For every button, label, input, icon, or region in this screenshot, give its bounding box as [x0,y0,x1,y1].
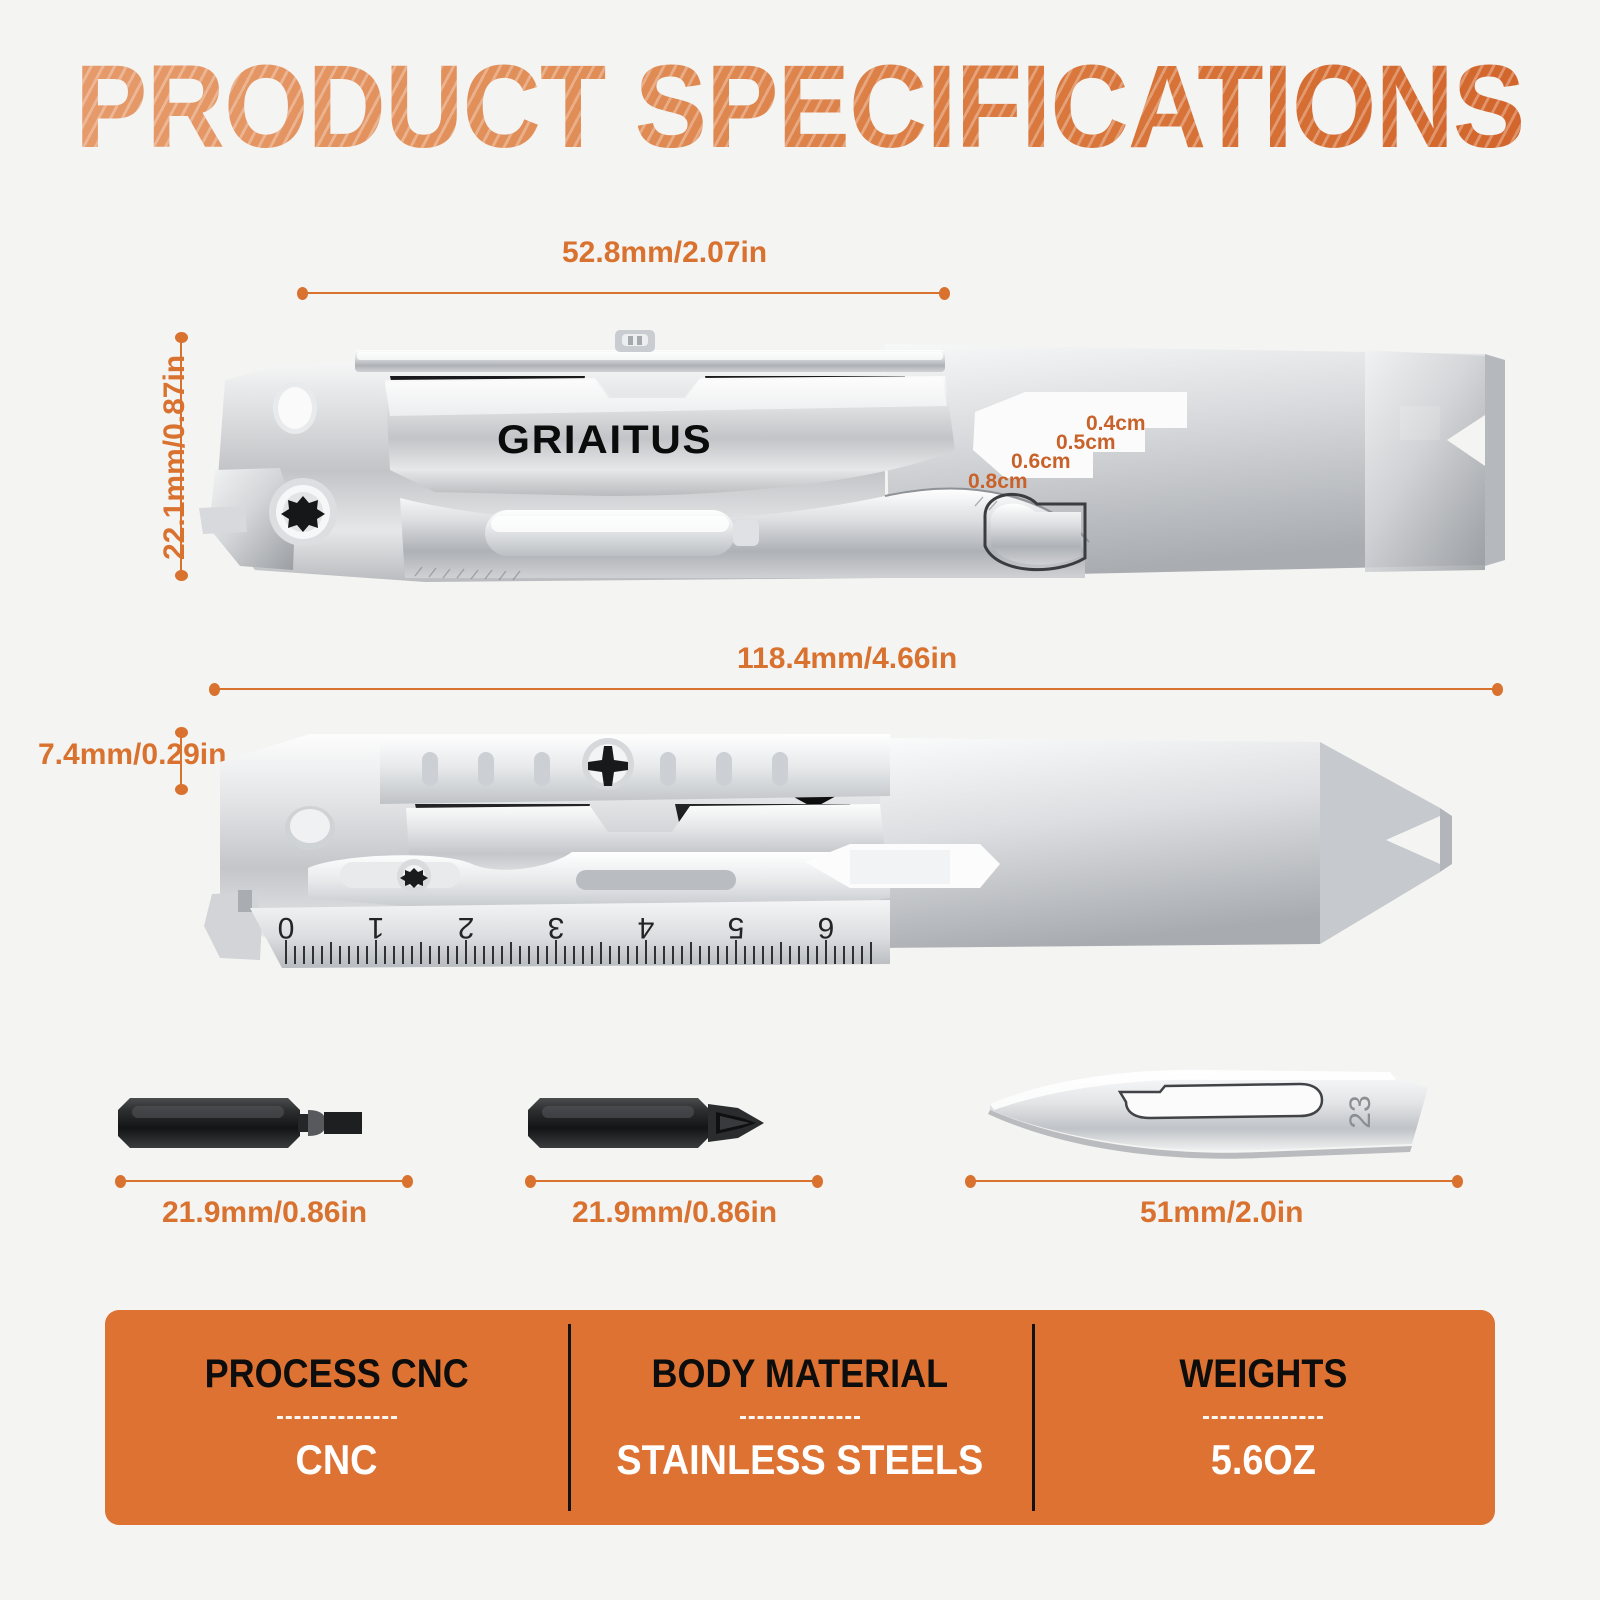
scalpel-blade-illustration: 23 [960,1050,1450,1170]
spec-divider-dash [277,1416,397,1419]
page-title-wrap: PRODUCT SPECIFICATIONS [0,48,1600,166]
open-length-dimension-label: 118.4mm/4.66in [737,642,957,676]
product-specifications-infographic: PRODUCT SPECIFICATIONS 52.8mm/2.07in 22.… [0,0,1600,1600]
flathead-bit-dimension-label: 21.9mm/0.86in [162,1196,367,1230]
spec-value-process: CNC [296,1436,378,1484]
page-title: PRODUCT SPECIFICATIONS [75,48,1524,166]
open-multitool-illustration: 0 1 2 3 4 5 6 [190,712,1520,982]
open-length-dimension-line [212,688,1500,690]
scalpel-blade-dimension-line [968,1180,1460,1182]
spec-divider-dash [1203,1416,1323,1419]
folded-height-dimension-line [180,335,182,578]
spec-column-body-material: BODY MATERIAL STAINLESS STEELS [568,1310,1031,1525]
scalpel-blade-number: 23 [1344,1095,1377,1128]
scalpel-blade-dimension-label: 51mm/2.0in [1140,1196,1303,1230]
wrench-step-label-0.8cm: 0.8cm [968,470,1028,494]
folded-length-dimension-line [300,292,947,294]
svg-text:0: 0 [278,911,295,944]
svg-text:3: 3 [548,911,565,944]
spec-value-body-material: STAINLESS STEELS [617,1436,984,1484]
flathead-bit-dimension-line [118,1180,410,1182]
svg-text:1: 1 [368,911,385,944]
flathead-bit-illustration [110,1090,410,1160]
spec-column-weights: WEIGHTS 5.6OZ [1032,1310,1495,1525]
spec-divider-dash [740,1416,860,1419]
svg-text:4: 4 [638,911,655,944]
spec-header-weights: WEIGHTS [1179,1352,1347,1397]
spec-header-process: PROCESS CNC [205,1352,469,1397]
svg-text:6: 6 [818,911,835,944]
phillips-bit-illustration [520,1090,820,1160]
spec-header-body-material: BODY MATERIAL [652,1352,949,1397]
open-thickness-dimension-line [180,730,182,792]
svg-text:2: 2 [458,911,475,944]
brand-wordmark: GRIAITUS [497,418,712,463]
spec-value-weights: 5.6OZ [1211,1436,1316,1484]
folded-length-dimension-label: 52.8mm/2.07in [562,236,767,270]
spec-column-process: PROCESS CNC CNC [105,1310,568,1525]
closed-multitool-illustration [185,320,1505,600]
phillips-bit-dimension-label: 21.9mm/0.86in [572,1196,777,1230]
phillips-bit-dimension-line [528,1180,820,1182]
svg-text:5: 5 [728,911,745,944]
specification-table: PROCESS CNC CNC BODY MATERIAL STAINLESS … [105,1310,1495,1525]
